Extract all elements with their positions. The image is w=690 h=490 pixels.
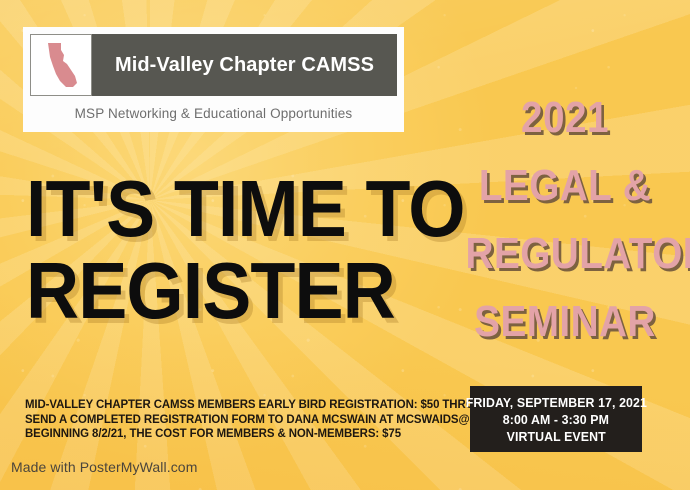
event-poster: Mid-Valley Chapter CAMSS MSP Networking … <box>0 0 690 490</box>
event-time: 8:00 AM - 3:30 PM <box>503 411 609 428</box>
headline: IT'S TIME TO REGISTER <box>26 168 456 332</box>
logo-top-row: Mid-Valley Chapter CAMSS <box>30 34 397 96</box>
seminar-title-line-3: REGULATORY <box>466 220 665 288</box>
seminar-title-line-2: LEGAL & <box>466 152 665 220</box>
seminar-year: 2021 <box>466 84 665 152</box>
logo-tagline: MSP Networking & Educational Opportuniti… <box>30 96 397 132</box>
event-details-box: FRIDAY, SEPTEMBER 17, 2021 8:00 AM - 3:3… <box>470 386 642 452</box>
logo-title: Mid-Valley Chapter CAMSS <box>115 54 374 77</box>
event-format: VIRTUAL EVENT <box>506 428 605 445</box>
fineprint-line-1: MID-VALLEY CHAPTER CAMSS MEMBERS EARLY B… <box>25 397 420 412</box>
organization-logo-card: Mid-Valley Chapter CAMSS MSP Networking … <box>23 27 404 132</box>
headline-line-2: REGISTER <box>26 250 422 332</box>
logo-title-bar: Mid-Valley Chapter CAMSS <box>92 34 397 96</box>
event-date: FRIDAY, SEPTEMBER 17, 2021 <box>465 394 646 411</box>
california-state-outline-icon <box>30 34 92 96</box>
fineprint-line-2: SEND A COMPLETED REGISTRATION FORM TO DA… <box>25 412 420 427</box>
seminar-title-line-4: SEMINAR <box>466 288 665 356</box>
postermywall-watermark: Made with PosterMyWall.com <box>11 459 197 475</box>
fineprint-line-3: BEGINNING 8/2/21, THE COST FOR MEMBERS &… <box>25 426 420 441</box>
registration-fineprint: MID-VALLEY CHAPTER CAMSS MEMBERS EARLY B… <box>25 397 450 441</box>
seminar-title: 2021 LEGAL & REGULATORY SEMINAR <box>452 84 678 356</box>
headline-line-1: IT'S TIME TO <box>26 168 422 250</box>
